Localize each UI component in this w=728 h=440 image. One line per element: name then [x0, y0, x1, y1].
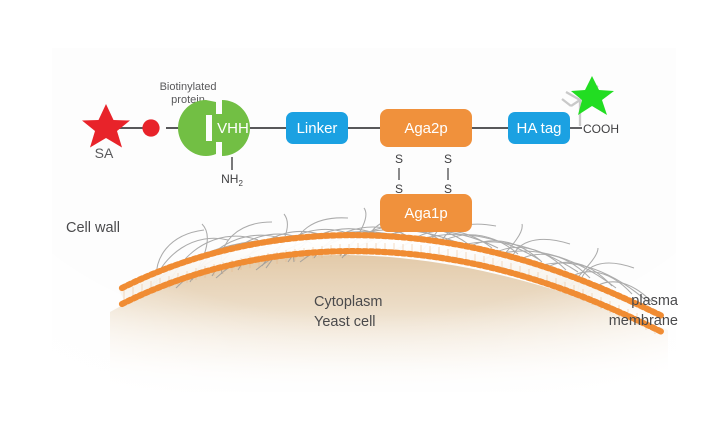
biotinylated-protein-label-line1: Biotinylated [160, 81, 217, 93]
linker-label: Linker [297, 120, 338, 137]
disulfide-s-bottom-right: S [444, 182, 452, 196]
disulfide-s-top-left: S [395, 152, 403, 166]
ha-tag-label: HA tag [516, 120, 561, 137]
vhh-label: VHH [217, 120, 249, 137]
diagram-svg: SA Biotinylated protein VHH NH2 Linker [0, 0, 728, 440]
disulfide-s-bottom-left: S [395, 182, 403, 196]
cooh-label: COOH [583, 122, 619, 136]
cell-wall-label: Cell wall [66, 220, 120, 236]
plasma-membrane-label-line2: membrane [609, 313, 678, 329]
aga2p-label: Aga2p [404, 120, 447, 137]
aga2p-box[interactable]: Aga2p [380, 109, 472, 147]
plasma-membrane-label-line1: plasma [631, 293, 679, 309]
ha-tag-box[interactable]: HA tag [508, 112, 570, 144]
sa-label: SA [95, 145, 114, 161]
figure-canvas: SA Biotinylated protein VHH NH2 Linker [0, 0, 728, 440]
yeast-cell-label: Yeast cell [314, 314, 376, 330]
disulfide-s-top-right: S [444, 152, 452, 166]
aga1p-label: Aga1p [404, 205, 447, 222]
linker-box[interactable]: Linker [286, 112, 348, 144]
cytoplasm-label: Cytoplasm [314, 294, 383, 310]
aga1p-box[interactable]: Aga1p [380, 194, 472, 232]
